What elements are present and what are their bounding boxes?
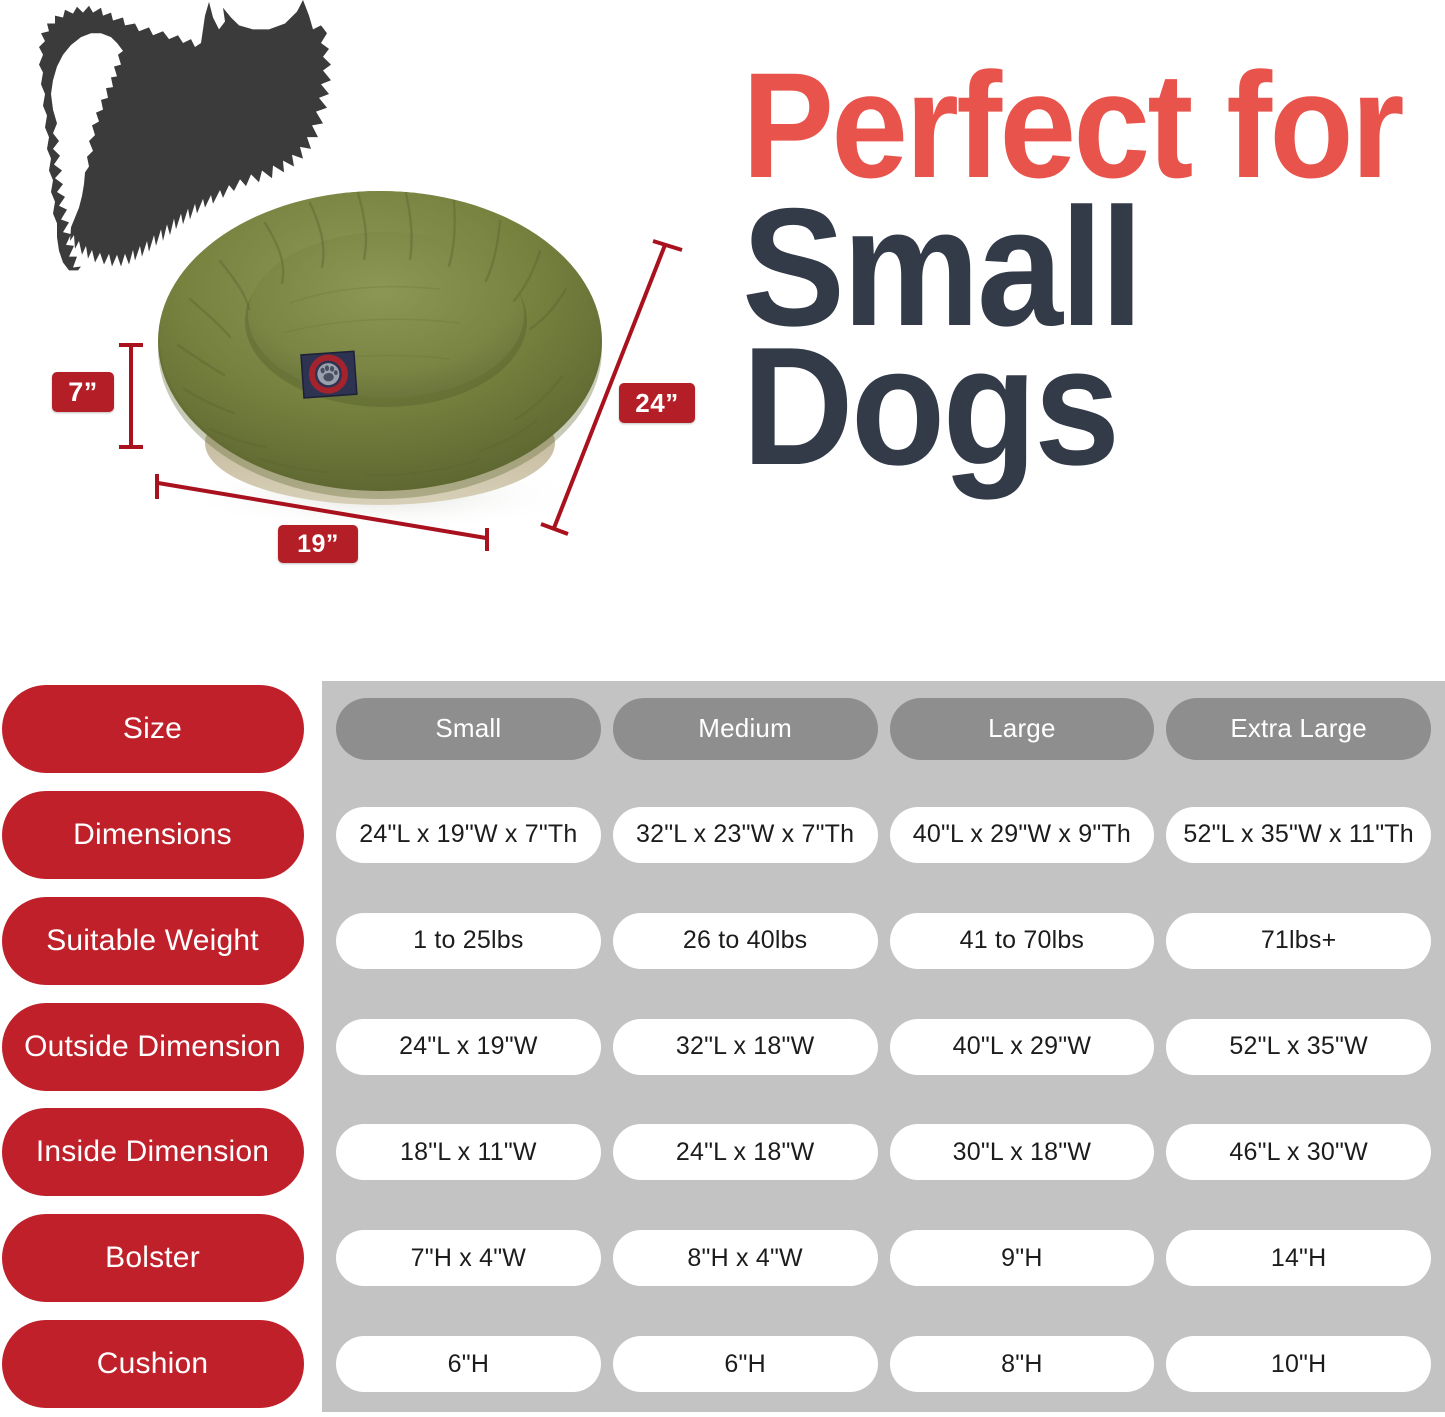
row-label-cell: Suitable Weight	[0, 897, 322, 985]
row-values: 18"L x 11"W24"L x 18"W30"L x 18"W46"L x …	[322, 1124, 1445, 1180]
table-row: Inside Dimension18"L x 11"W24"L x 18"W30…	[0, 1099, 1445, 1205]
value-pill: 30"L x 18"W	[890, 1124, 1155, 1180]
value-pill: 7"H x 4"W	[336, 1230, 601, 1286]
table-grid: SizeSmallMediumLargeExtra LargeDimension…	[0, 676, 1445, 1417]
row-label-outside-dimension: Outside Dimension	[2, 1003, 304, 1091]
row-label-dimensions: Dimensions	[2, 791, 304, 879]
row-values: 7"H x 4"W8"H x 4"W9"H14"H	[322, 1230, 1445, 1286]
value-pill: 46"L x 30"W	[1166, 1124, 1431, 1180]
row-values: 1 to 25lbs26 to 40lbs41 to 70lbs71lbs+	[322, 913, 1445, 969]
value-pill: 8"H	[890, 1336, 1155, 1392]
value-pill: 32"L x 23"W x 7"Th	[613, 807, 878, 863]
table-row: Bolster7"H x 4"W8"H x 4"W9"H14"H	[0, 1205, 1445, 1311]
row-values: 24"L x 19"W x 7"Th32"L x 23"W x 7"Th40"L…	[322, 807, 1445, 863]
row-label-cell: Dimensions	[0, 791, 322, 879]
value-pill: 9"H	[890, 1230, 1155, 1286]
specification-table: SizeSmallMediumLargeExtra LargeDimension…	[0, 676, 1445, 1417]
dimension-label-width: 19”	[278, 525, 358, 563]
headline: Perfect for Small Dogs	[742, 52, 1442, 488]
row-label-cell: Inside Dimension	[0, 1108, 322, 1196]
table-row: Suitable Weight1 to 25lbs26 to 40lbs41 t…	[0, 888, 1445, 994]
dimension-label-length: 24”	[619, 383, 695, 423]
value-pill: 40"L x 29"W x 9"Th	[890, 807, 1155, 863]
value-pill: 14"H	[1166, 1230, 1431, 1286]
row-label-inside-dimension: Inside Dimension	[2, 1108, 304, 1196]
value-pill: 6"H	[336, 1336, 601, 1392]
column-header-pill: Medium	[613, 698, 878, 760]
row-label-cell: Bolster	[0, 1214, 322, 1302]
value-pill: 41 to 70lbs	[890, 913, 1155, 969]
row-label-cell: Cushion	[0, 1320, 322, 1408]
row-values: 24"L x 19"W32"L x 18"W40"L x 29"W52"L x …	[322, 1019, 1445, 1075]
column-header-pill: Small	[336, 698, 601, 760]
table-row: Dimensions24"L x 19"W x 7"Th32"L x 23"W …	[0, 782, 1445, 888]
row-label-suitable-weight: Suitable Weight	[2, 897, 304, 985]
value-pill: 71lbs+	[1166, 913, 1431, 969]
value-pill: 26 to 40lbs	[613, 913, 878, 969]
dimension-label-height: 7”	[52, 372, 114, 412]
row-values: 6"H6"H8"H10"H	[322, 1336, 1445, 1392]
row-label-cell: Size	[0, 685, 322, 773]
table-row: Outside Dimension24"L x 19"W32"L x 18"W4…	[0, 994, 1445, 1100]
table-row: Cushion6"H6"H8"H10"H	[0, 1311, 1445, 1417]
value-pill: 24"L x 19"W x 7"Th	[336, 807, 601, 863]
value-pill: 1 to 25lbs	[336, 913, 601, 969]
headline-line-3: Dogs	[742, 324, 1386, 489]
value-pill: 8"H x 4"W	[613, 1230, 878, 1286]
table-row: SizeSmallMediumLargeExtra Large	[0, 676, 1445, 782]
value-pill: 10"H	[1166, 1336, 1431, 1392]
value-pill: 52"L x 35"W x 11"Th	[1166, 807, 1431, 863]
value-pill: 40"L x 29"W	[890, 1019, 1155, 1075]
row-label-size: Size	[2, 685, 304, 773]
row-label-cushion: Cushion	[2, 1320, 304, 1408]
value-pill: 18"L x 11"W	[336, 1124, 601, 1180]
column-header-pill: Large	[890, 698, 1155, 760]
row-label-cell: Outside Dimension	[0, 1003, 322, 1091]
value-pill: 24"L x 19"W	[336, 1019, 601, 1075]
row-label-bolster: Bolster	[2, 1214, 304, 1302]
dog-bed-product-image	[150, 163, 610, 533]
column-header-pill: Extra Large	[1166, 698, 1431, 760]
value-pill: 32"L x 18"W	[613, 1019, 878, 1075]
value-pill: 52"L x 35"W	[1166, 1019, 1431, 1075]
row-values: SmallMediumLargeExtra Large	[322, 698, 1445, 760]
value-pill: 6"H	[613, 1336, 878, 1392]
value-pill: 24"L x 18"W	[613, 1124, 878, 1180]
hero-section: 7” 19” 24” Perfect for Small Dogs	[0, 0, 1445, 672]
